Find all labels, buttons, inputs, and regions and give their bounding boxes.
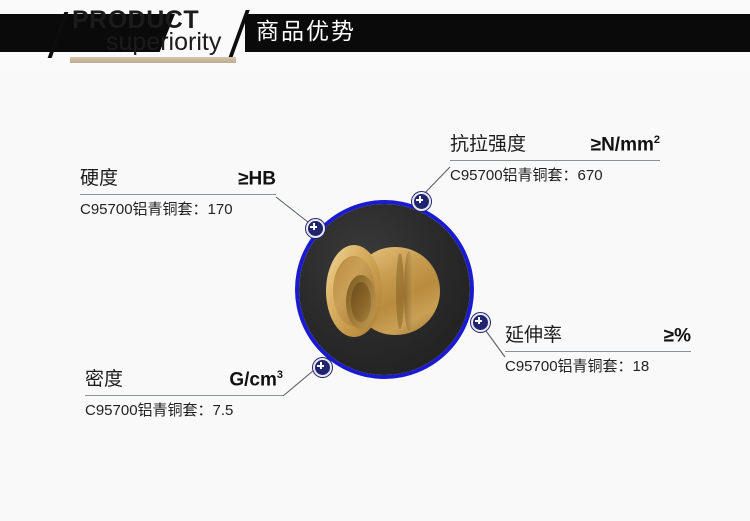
spec-elongation-rule [505,351,691,352]
spec-tensile-name: 抗拉强度 [450,135,526,156]
spec-density-unit-base: G/cm [229,369,277,390]
spec-hardness: 硬度 ≥HB C95700铝青铜套：170 [80,168,276,219]
marker-elongation-plus-crosshair-icon[interactable] [471,313,490,332]
product-superiority-infographic: PRODUCT superiority 商品优势 [0,0,750,521]
brass-bushing-illustration [326,245,444,337]
header-title-chinese: 商品优势 [256,20,356,43]
spec-elongation-name: 延伸率 [505,326,562,347]
bushing-bore [346,275,376,329]
spec-tensile-rule [450,160,660,161]
bushing-bore-inner [351,282,371,322]
spec-elongation: 延伸率 ≥% C95700铝青铜套：18 [505,325,691,376]
spec-density-rule [85,395,283,396]
spec-hardness-value: C95700铝青铜套：170 [80,201,276,219]
spec-density-head: 密度 G/cm3 [85,369,283,391]
spec-hardness-name: 硬度 [80,169,118,190]
spec-hardness-unit-base: ≥HB [238,168,276,189]
spec-elongation-unit: ≥% [664,325,691,347]
marker-tensile-plus-crosshair-icon[interactable] [412,192,431,211]
spec-tensile-value: C95700铝青铜套：670 [450,167,660,185]
spec-hardness-rule [80,194,276,195]
spec-elongation-head: 延伸率 ≥% [505,325,691,347]
spec-hardness-head: 硬度 ≥HB [80,168,276,190]
spec-density-value: C95700铝青铜套：7.5 [85,402,283,420]
spec-hardness-unit: ≥HB [238,168,276,190]
spec-density: 密度 G/cm3 C95700铝青铜套：7.5 [85,369,283,420]
spec-elongation-value: C95700铝青铜套：18 [505,358,691,376]
header-gold-underline [70,57,236,63]
spec-density-unit: G/cm3 [229,369,283,391]
bushing-groove [396,253,404,329]
header-title-english-bottom: superiority [106,30,221,55]
spec-density-unit-sup: 3 [277,369,283,381]
spec-tensile-unit-sup: 2 [654,134,660,146]
marker-density-plus-crosshair-icon[interactable] [313,358,332,377]
marker-hardness-plus-crosshair-icon[interactable] [306,219,325,238]
spec-tensile-unit-base: ≥N/mm [591,134,654,155]
spec-tensile-head: 抗拉强度 ≥N/mm2 [450,134,660,156]
bushing-rim [333,256,375,326]
spec-tensile-unit: ≥N/mm2 [591,134,660,156]
spec-tensile-strength: 抗拉强度 ≥N/mm2 C95700铝青铜套：670 [450,134,660,185]
spec-elongation-unit-base: ≥% [664,325,691,346]
bushing-flange [326,245,382,337]
spec-density-name: 密度 [85,370,123,391]
page-header: PRODUCT superiority 商品优势 [0,0,750,72]
